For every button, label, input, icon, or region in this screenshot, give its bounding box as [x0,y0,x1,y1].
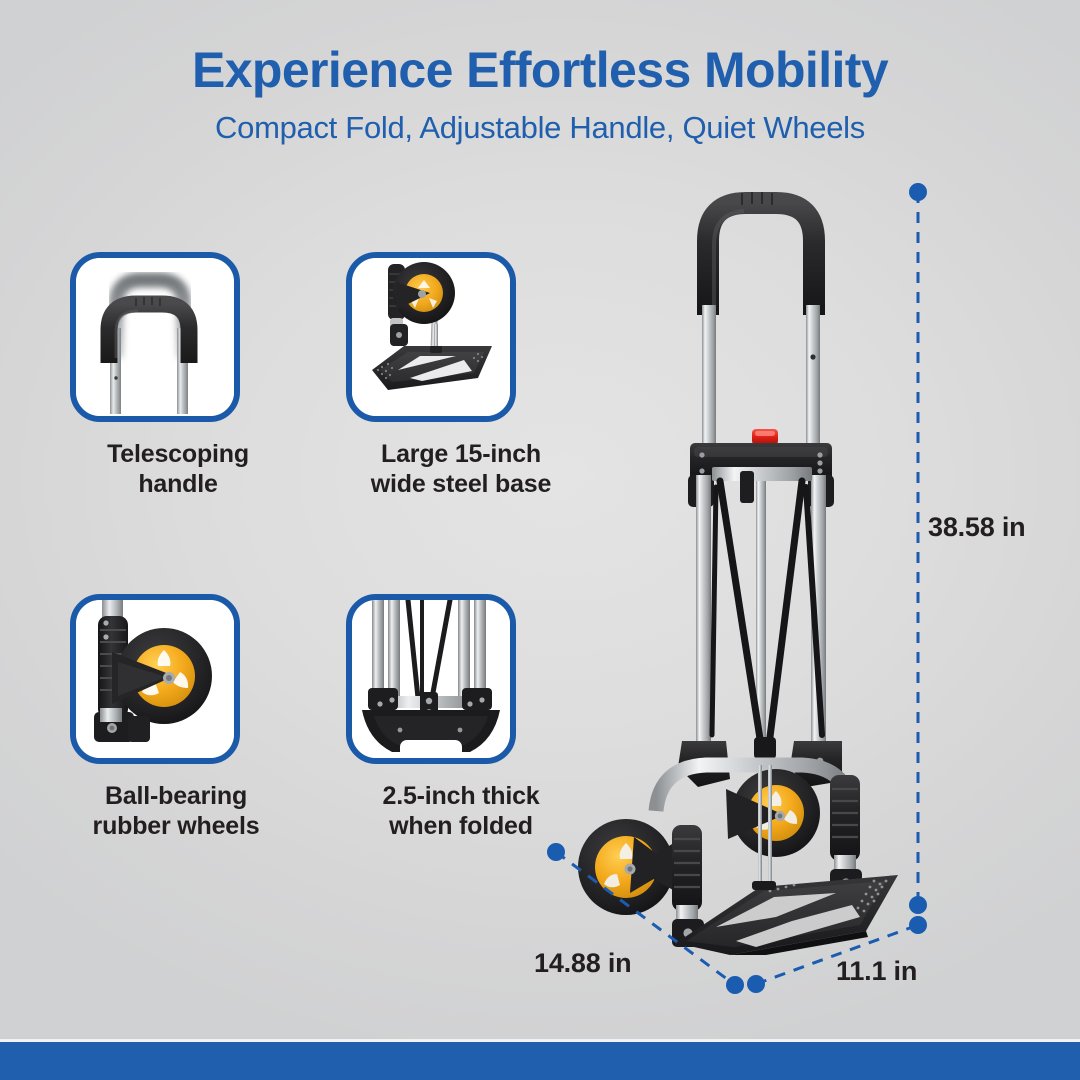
infographic-canvas: Experience Effortless Mobility Compact F… [0,0,1080,1080]
telescoping-handle-icon [76,258,234,416]
dimension-endpoint-depth-left [747,975,765,993]
feature-label-line1: Large 15-inch [381,440,541,468]
telescoping-tube-left [702,305,716,467]
feature-label-line1: 2.5-inch thick [383,782,540,810]
steel-base-icon [352,258,510,416]
feature-label-line2: rubber wheels [93,812,260,840]
product-image-folding-hand-truck [530,175,950,955]
page-title: Experience Effortless Mobility [0,44,1080,97]
telescoping-tube-right [806,305,820,467]
footer-bar [0,1042,1080,1080]
wheel-front [578,819,682,915]
feature-label-rubber-wheels: Ball-bearing rubber wheels [44,782,308,841]
dimension-label-height: 38.58 in [928,512,1025,543]
feature-callout-rubber-wheels: Ball-bearing rubber wheels [44,594,308,841]
dimension-endpoint-width-bottom [726,976,744,994]
feature-label-line1: Ball-bearing [105,782,247,810]
telescoping-handle-thumbnail [70,252,240,422]
header: Experience Effortless Mobility Compact F… [0,0,1080,145]
tension-strap-right [769,481,802,745]
feature-label-line2: when folded [389,812,533,840]
tension-strap-left [720,481,761,745]
rubber-wheel-icon [76,600,234,758]
wheel-rear [726,769,820,857]
feature-label-line2: wide steel base [371,470,551,498]
feature-label-telescoping-handle: Telescoping handle [48,440,308,499]
feature-label-line1: Telescoping [107,440,249,468]
folded-frame-icon [352,600,510,758]
frame-tube-left [696,475,711,753]
dimension-label-depth: 11.1 in [836,956,917,987]
hand-truck-illustration [530,175,950,955]
page-subtitle: Compact Fold, Adjustable Handle, Quiet W… [0,111,1080,145]
feature-callout-telescoping-handle: Telescoping handle [44,252,308,499]
dimension-label-width: 14.88 in [534,948,631,979]
rubber-wheel-thumbnail [70,594,240,764]
folded-frame-thumbnail [346,594,516,764]
steel-base-thumbnail [346,252,516,422]
feature-label-line2: handle [138,470,217,498]
base-plate [676,875,898,955]
